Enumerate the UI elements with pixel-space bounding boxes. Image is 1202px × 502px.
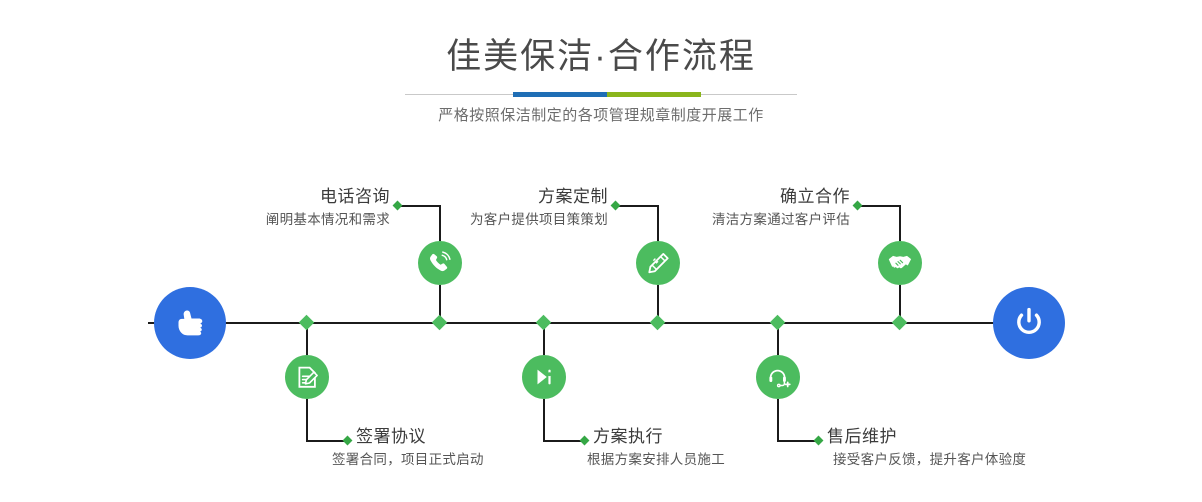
play-execute-icon xyxy=(532,365,556,389)
connector-vertical-label-after-sales xyxy=(777,399,779,440)
handshake-icon xyxy=(887,250,913,276)
connector-horizontal-establish-coop xyxy=(858,205,900,207)
step-desc-sign-agreement: 签署合同，项目正式启动 xyxy=(332,450,616,470)
process-flow-timeline: 电话咨询 阐明基本情况和需求 签署协议 签署合同，项目正式启动 xyxy=(0,0,1202,502)
step-title-plan-custom: 方案定制 xyxy=(368,186,608,208)
step-desc-phone-consult: 阐明基本情况和需求 xyxy=(150,210,390,230)
label-diamond-sign-agreement xyxy=(343,435,353,445)
step-title-establish-coop: 确立合作 xyxy=(610,186,850,208)
step-label-establish-coop: 确立合作 清洁方案通过客户评估 xyxy=(610,186,850,230)
connector-vertical-label-sign-agreement xyxy=(306,399,308,440)
step-node-establish-coop[interactable] xyxy=(878,241,922,285)
step-node-phone-consult[interactable] xyxy=(418,241,462,285)
timeline-axis xyxy=(148,322,1054,324)
step-label-phone-consult: 电话咨询 阐明基本情况和需求 xyxy=(150,186,390,230)
label-diamond-establish-coop xyxy=(853,200,863,210)
step-node-sign-agreement[interactable] xyxy=(285,355,329,399)
flow-end-node[interactable] xyxy=(993,287,1065,359)
step-label-sign-agreement: 签署协议 签署合同，项目正式启动 xyxy=(356,426,616,470)
flow-start-node[interactable] xyxy=(154,287,226,359)
step-title-phone-consult: 电话咨询 xyxy=(150,186,390,208)
step-title-after-sales: 售后维护 xyxy=(827,426,1107,448)
step-label-plan-custom: 方案定制 为客户提供项目策策划 xyxy=(368,186,608,230)
pencil-ruler-icon xyxy=(646,251,671,276)
step-title-plan-execute: 方案执行 xyxy=(593,426,853,448)
step-node-plan-custom[interactable] xyxy=(636,241,680,285)
step-desc-establish-coop: 清洁方案通过客户评估 xyxy=(610,210,850,230)
step-node-plan-execute[interactable] xyxy=(522,355,566,399)
connector-vertical-label-plan-execute xyxy=(543,399,545,440)
axis-diamond-establish-coop xyxy=(892,315,908,331)
pointing-hand-icon xyxy=(170,303,210,343)
axis-diamond-plan-custom xyxy=(650,315,666,331)
axis-diamond-plan-execute xyxy=(536,315,552,331)
step-label-after-sales: 售后维护 接受客户反馈，提升客户体验度 xyxy=(827,426,1107,470)
step-label-plan-execute: 方案执行 根据方案安排人员施工 xyxy=(593,426,853,470)
power-icon xyxy=(1010,304,1048,342)
step-desc-plan-execute: 根据方案安排人员施工 xyxy=(587,450,853,470)
step-desc-after-sales: 接受客户反馈，提升客户体验度 xyxy=(833,450,1107,470)
step-desc-plan-custom: 为客户提供项目策策划 xyxy=(368,210,608,230)
step-node-after-sales[interactable] xyxy=(756,355,800,399)
axis-diamond-after-sales xyxy=(770,315,786,331)
document-pen-icon xyxy=(295,365,320,390)
connector-vertical-label-establish-coop xyxy=(899,205,901,241)
headset-support-icon xyxy=(766,365,791,390)
axis-diamond-phone-consult xyxy=(432,315,448,331)
phone-call-icon xyxy=(427,250,453,276)
step-title-sign-agreement: 签署协议 xyxy=(356,426,616,448)
axis-diamond-sign-agreement xyxy=(299,315,315,331)
